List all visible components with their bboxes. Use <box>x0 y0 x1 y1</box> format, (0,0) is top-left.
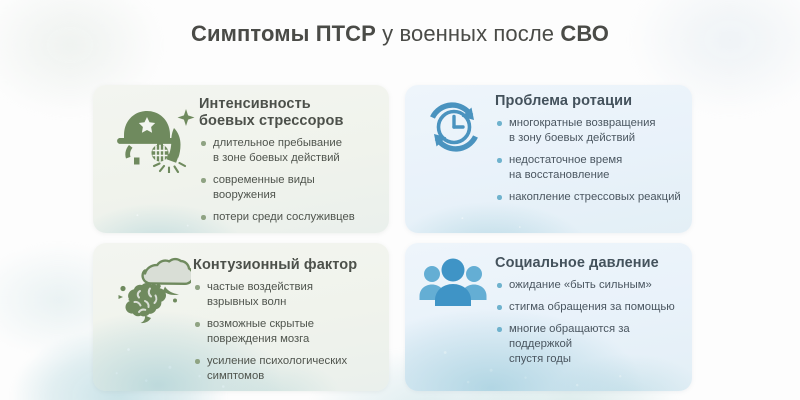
card-body: Социальное давление ожидание «быть сильн… <box>489 243 692 367</box>
bullet-line-1: многие обращаются за поддержкой <box>509 322 684 352</box>
bullet-line-1: потери среди сослуживцев <box>213 210 381 225</box>
list-item: многие обращаются за поддержкой спустя г… <box>495 322 684 367</box>
list-item: длительное пребывание в зоне боевых дейс… <box>199 136 381 166</box>
bullet-line-1: ожидание «быть сильным» <box>509 278 684 293</box>
card-body: Проблема ротации многократные возвращени… <box>489 85 692 205</box>
bullet-line-2: вооружения <box>213 188 381 203</box>
bullet-line-1: современные виды <box>213 173 381 188</box>
card-title-line-1: Проблема ротации <box>495 93 684 110</box>
card-title-line-2: боевых стрессоров <box>199 113 381 130</box>
list-item: ожидание «быть сильным» <box>495 278 684 293</box>
bullet-list: ожидание «быть сильным» стигма обращения… <box>495 278 684 367</box>
list-item: недостаточное время на восстановление <box>495 153 684 183</box>
people-group-icon <box>417 253 489 313</box>
brain-blast-icon <box>109 255 191 327</box>
card-body: Интенсивность боевых стрессоров длительн… <box>197 85 389 225</box>
list-item: потери среди сослуживцев <box>199 210 381 225</box>
bullet-line-2: на восстановление <box>509 168 684 183</box>
card-title: Социальное давление <box>495 255 684 272</box>
list-item: накопление стрессовых реакций <box>495 190 684 205</box>
list-item: частые воздействия взрывных волн <box>193 280 381 310</box>
list-item: усиление психологических симптомов <box>193 354 381 384</box>
bullet-line-1: длительное пребывание <box>213 136 381 151</box>
bullet-line-1: многократные возвращения <box>509 116 684 131</box>
card-title: Интенсивность боевых стрессоров <box>199 96 381 130</box>
bullet-line-2: спустя годы <box>509 352 684 367</box>
bullet-line-2: в зоне боевых действий <box>213 151 381 166</box>
list-item: многократные возвращения в зону боевых д… <box>495 116 684 146</box>
card-rotation-problem[interactable]: Проблема ротации многократные возвращени… <box>405 85 692 233</box>
card-body: Контузионный фактор частые воздействия в… <box>191 243 389 384</box>
card-concussion-factor[interactable]: Контузионный фактор частые воздействия в… <box>93 243 389 391</box>
bullet-line-1: усиление психологических <box>207 354 381 369</box>
page-title: Симптомы ПТСР у военных после СВО <box>0 20 800 48</box>
bullet-list: частые воздействия взрывных волн возможн… <box>193 280 381 384</box>
card-title: Проблема ротации <box>495 93 684 110</box>
combat-helmet-icon <box>111 97 197 173</box>
card-title: Контузионный фактор <box>193 257 381 274</box>
list-item: стигма обращения за помощью <box>495 300 684 315</box>
bullet-line-2: симптомов <box>207 369 381 384</box>
list-item: возможные скрытые повреждения мозга <box>193 317 381 347</box>
bullet-line-2: взрывных волн <box>207 295 381 310</box>
rotation-clock-icon <box>419 95 489 159</box>
page-title-normal: у военных после <box>376 21 560 46</box>
bullet-line-1: накопление стрессовых реакций <box>509 190 684 205</box>
bullet-list: длительное пребывание в зоне боевых дейс… <box>199 136 381 225</box>
list-item: современные виды вооружения <box>199 173 381 203</box>
card-social-pressure[interactable]: Социальное давление ожидание «быть сильн… <box>405 243 692 391</box>
bullet-line-1: возможные скрытые <box>207 317 381 332</box>
card-title-line-1: Интенсивность <box>199 96 381 113</box>
bullet-line-1: недостаточное время <box>509 153 684 168</box>
bullet-line-2: в зону боевых действий <box>509 131 684 146</box>
page-title-bold-2: СВО <box>560 21 609 46</box>
card-combat-stressors[interactable]: Интенсивность боевых стрессоров длительн… <box>93 85 389 233</box>
card-title-line-1: Контузионный фактор <box>193 257 381 274</box>
bullet-line-2: повреждения мозга <box>207 332 381 347</box>
card-title-line-1: Социальное давление <box>495 255 684 272</box>
slide-root: Симптомы ПТСР у военных после СВО <box>0 0 800 400</box>
bullet-line-1: стигма обращения за помощью <box>509 300 684 315</box>
bullet-line-1: частые воздействия <box>207 280 381 295</box>
bullet-list: многократные возвращения в зону боевых д… <box>495 116 684 205</box>
page-title-bold-1: Симптомы ПТСР <box>191 21 376 46</box>
